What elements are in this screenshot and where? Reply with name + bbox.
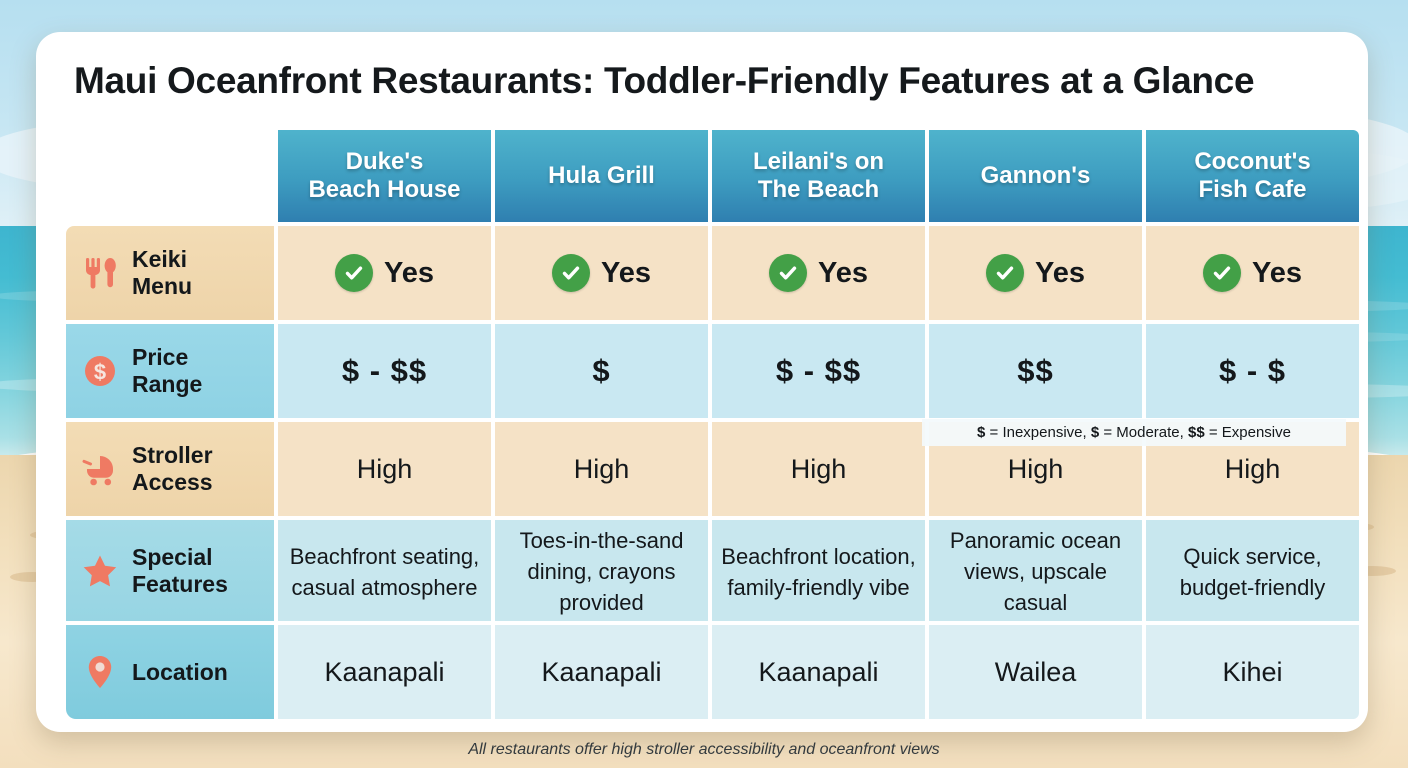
restaurant-name-line1: Coconut's (1152, 148, 1353, 176)
row-label-line2: Access (132, 469, 213, 495)
cell-keiki-menu-duke: Yes (278, 226, 491, 320)
table-row-location: Location Kaanapali Kaanapali Kaanapali W… (66, 625, 1359, 719)
row-label-special-features: Special Features (66, 520, 274, 621)
cell-value: Yes (1252, 257, 1302, 290)
cell-value: Wailea (995, 657, 1077, 687)
cell-value: Beachfront location, family-friendly vib… (721, 544, 915, 600)
cell-value: $$ (1017, 353, 1053, 388)
cell-value: Kaanapali (541, 657, 661, 687)
cell-value: High (574, 454, 630, 484)
row-label-stroller-access: Stroller Access (66, 422, 274, 516)
cell-keiki-menu-leilani: Yes (712, 226, 925, 320)
restaurant-name-line2: Fish Cafe (1152, 176, 1353, 204)
cell-value: $ - $ (1219, 353, 1286, 388)
price-legend-symbol-3: $$ (1188, 424, 1205, 441)
cell-value: Kaanapali (758, 657, 878, 687)
cell-stroller-hula: High (495, 422, 708, 516)
svg-text:$: $ (94, 360, 106, 385)
cell-stroller-leilani: High (712, 422, 925, 516)
column-header-restaurant-3: Leilani's on The Beach (712, 130, 925, 222)
footer-caption: All restaurants offer high stroller acce… (0, 741, 1408, 759)
cell-features-hula: Toes-in-the-sand dining, crayons provide… (495, 520, 708, 621)
corner-cell (66, 130, 274, 222)
dollar-coin-icon: $ (80, 351, 120, 391)
row-label-line1: Keiki (132, 246, 187, 272)
column-header-restaurant-4: Gannon's (929, 130, 1142, 222)
table-body: Keiki Menu Yes (66, 226, 1359, 719)
table-row-special-features: Special Features Beachfront seating, cas… (66, 520, 1359, 621)
price-legend: $ = Inexpensive, $ = Moderate, $$ = Expe… (922, 419, 1346, 446)
cell-features-leilani: Beachfront location, family-friendly vib… (712, 520, 925, 621)
cell-features-gannon: Panoramic ocean views, upscale casual (929, 520, 1142, 621)
cell-keiki-menu-hula: Yes (495, 226, 708, 320)
cell-value: High (1225, 454, 1281, 484)
cell-value: Kaanapali (324, 657, 444, 687)
cell-price-leilani: $ - $$ (712, 324, 925, 418)
restaurant-name-line1: Gannon's (935, 162, 1136, 190)
cell-location-leilani: Kaanapali (712, 625, 925, 719)
cell-value: Kihei (1222, 657, 1282, 687)
map-pin-icon (80, 652, 120, 692)
cell-price-coconut: $ - $ (1146, 324, 1359, 418)
header-row: Duke's Beach House Hula Grill Leilani's … (66, 130, 1359, 222)
cell-keiki-menu-coconut: Yes (1146, 226, 1359, 320)
check-circle-icon (552, 254, 590, 292)
fork-spoon-icon (80, 253, 120, 293)
cell-value: High (1008, 454, 1064, 484)
column-header-restaurant-2: Hula Grill (495, 130, 708, 222)
row-label-keiki-menu: Keiki Menu (66, 226, 274, 320)
cell-location-gannon: Wailea (929, 625, 1142, 719)
cell-location-duke: Kaanapali (278, 625, 491, 719)
row-label-line2: Range (132, 371, 202, 397)
cell-value: Yes (384, 257, 434, 290)
row-label-price-range: $ Price Range (66, 324, 274, 418)
cell-stroller-duke: High (278, 422, 491, 516)
page-title: Maui Oceanfront Restaurants: Toddler-Fri… (74, 60, 1334, 102)
restaurant-name-line1: Hula Grill (501, 162, 702, 190)
price-legend-text-2: = Moderate, (1099, 424, 1188, 441)
cell-location-coconut: Kihei (1146, 625, 1359, 719)
cell-value: High (357, 454, 413, 484)
cell-value: Yes (601, 257, 651, 290)
cell-location-hula: Kaanapali (495, 625, 708, 719)
table-row-price-range: $ Price Range $ - $$ $ (66, 324, 1359, 418)
column-header-restaurant-1: Duke's Beach House (278, 130, 491, 222)
restaurant-name-line2: The Beach (718, 176, 919, 204)
restaurant-name-line1: Duke's (284, 148, 485, 176)
check-circle-icon (986, 254, 1024, 292)
restaurant-name-line1: Leilani's on (718, 148, 919, 176)
price-legend-symbol-2: $ (1091, 424, 1099, 441)
row-label-line2: Menu (132, 273, 192, 299)
infographic-card: Maui Oceanfront Restaurants: Toddler-Fri… (36, 32, 1368, 732)
table-row-keiki-menu: Keiki Menu Yes (66, 226, 1359, 320)
cell-value: High (791, 454, 847, 484)
cell-value: Yes (818, 257, 868, 290)
check-circle-icon (769, 254, 807, 292)
row-label-line2: Features (132, 571, 228, 597)
cell-price-duke: $ - $$ (278, 324, 491, 418)
cell-features-duke: Beachfront seating, casual atmosphere (278, 520, 491, 621)
cell-features-coconut: Quick service, budget-friendly (1146, 520, 1359, 621)
restaurant-name-line2: Beach House (284, 176, 485, 204)
row-label-line1: Price (132, 344, 188, 370)
cell-price-gannon: $$ (929, 324, 1142, 418)
cell-value: Toes-in-the-sand dining, crayons provide… (520, 528, 684, 615)
cell-value: Yes (1035, 257, 1085, 290)
row-label-line1: Location (132, 659, 228, 685)
cell-keiki-menu-gannon: Yes (929, 226, 1142, 320)
price-legend-text-3: = Expensive (1205, 424, 1291, 441)
cell-value: Panoramic ocean views, upscale casual (950, 528, 1121, 615)
check-circle-icon (1203, 254, 1241, 292)
cell-value: $ - $$ (776, 353, 861, 388)
cell-value: $ (592, 353, 610, 388)
check-circle-icon (335, 254, 373, 292)
row-label-line1: Special (132, 544, 213, 570)
price-legend-text-1: = Inexpensive, (985, 424, 1090, 441)
stroller-icon (80, 449, 120, 489)
cell-value: Beachfront seating, casual atmosphere (290, 544, 480, 600)
cell-value: Quick service, budget-friendly (1180, 544, 1326, 600)
column-header-restaurant-5: Coconut's Fish Cafe (1146, 130, 1359, 222)
row-label-location: Location (66, 625, 274, 719)
cell-value: $ - $$ (342, 353, 427, 388)
table-header: Duke's Beach House Hula Grill Leilani's … (66, 130, 1359, 222)
row-label-line1: Stroller (132, 442, 213, 468)
star-icon (80, 551, 120, 591)
cell-price-hula: $ (495, 324, 708, 418)
